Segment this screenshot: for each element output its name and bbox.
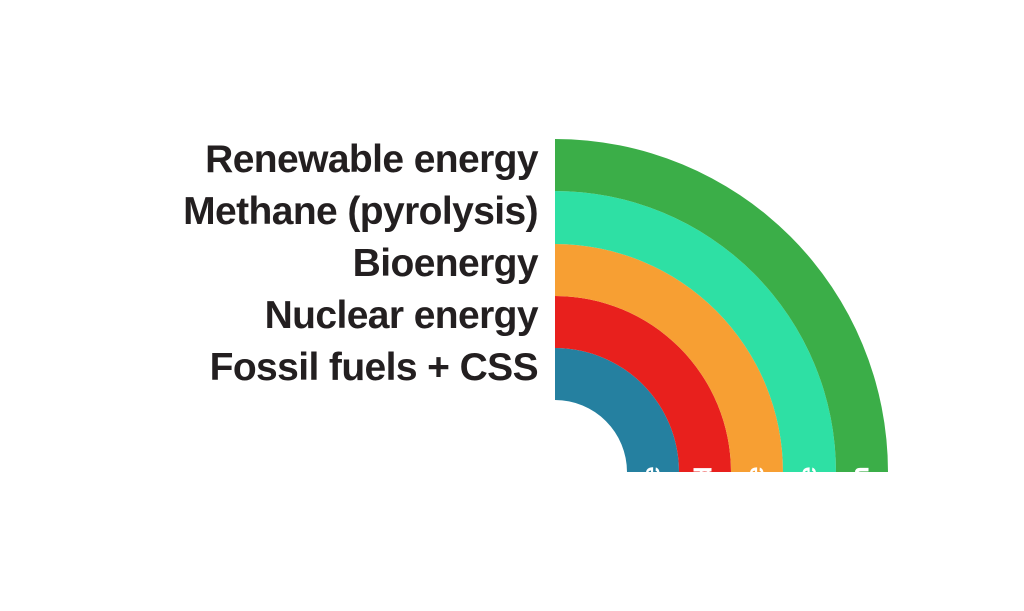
arc-band-label-orange: Orange (742, 466, 770, 482)
arc-band-label-blue: Blue (638, 466, 666, 482)
source-label-fossil-fuels-ccs: Fossil fuels + CSS (60, 342, 538, 394)
source-label-stack: Renewable energy Methane (pyrolysis) Bio… (60, 134, 538, 394)
arc-band-label-turquoise: Turquoise (794, 466, 822, 482)
arc-bands (555, 139, 888, 472)
source-label-bioenergy: Bioenergy (60, 238, 538, 290)
arc-chart-svg: Blue Red Orange Turquoise Green (548, 130, 900, 482)
arc-band-label-red: Red (690, 466, 718, 482)
arc-band-label-green: Green (847, 466, 875, 482)
source-label-nuclear-energy: Nuclear energy (60, 290, 538, 342)
arc-chart: Blue Red Orange Turquoise Green (548, 130, 900, 482)
source-label-renewable-energy: Renewable energy (60, 134, 538, 186)
hydrogen-colours-figure: Renewable energy Methane (pyrolysis) Bio… (0, 0, 1024, 611)
source-label-methane-pyrolysis: Methane (pyrolysis) (60, 186, 538, 238)
